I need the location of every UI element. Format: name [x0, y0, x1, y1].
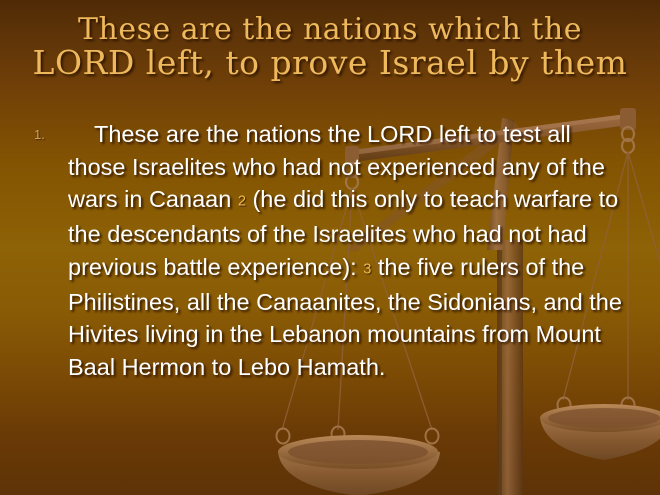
- verse-number-2: 2: [238, 193, 246, 209]
- slide-title-line-2: LORD left, to prove Israel by them: [0, 46, 660, 81]
- slide-body: 1. These are the nations the LORD left t…: [26, 118, 634, 383]
- presentation-slide: These are the nations which the LORD lef…: [0, 0, 660, 495]
- bullet-paragraph: These are the nations the LORD left to t…: [68, 118, 634, 383]
- slide-title: These are the nations which the LORD lef…: [0, 14, 660, 81]
- slide-title-line-1: These are the nations which the: [0, 14, 660, 46]
- bullet-number: 1.: [26, 118, 68, 152]
